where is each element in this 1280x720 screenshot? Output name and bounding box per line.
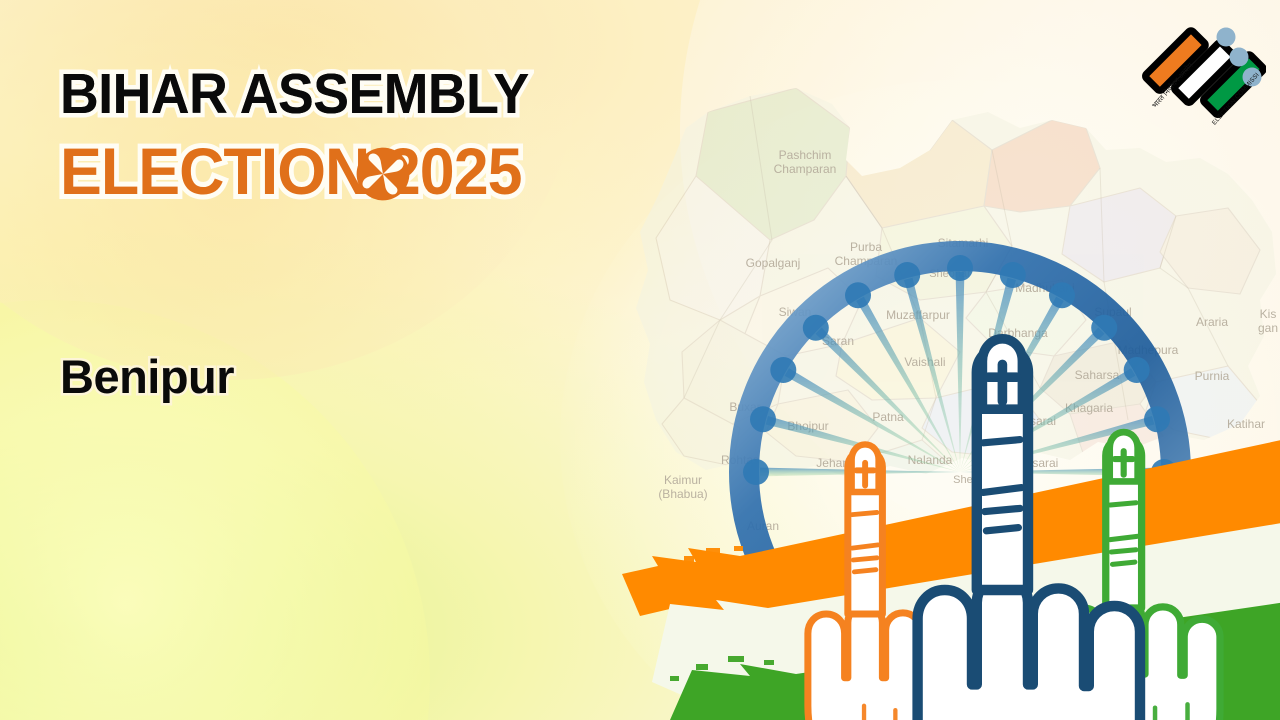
headline-block: BIHAR ASSEMBLY BIHAR ASSEMBLY ELECTION 2… bbox=[60, 66, 559, 212]
constituency-name: Benipur Benipur bbox=[60, 352, 234, 410]
title-line-1-text: BIHAR ASSEMBLY bbox=[60, 66, 529, 123]
title-line-1: BIHAR ASSEMBLY BIHAR ASSEMBLY bbox=[60, 66, 559, 128]
constituency-text: Benipur bbox=[60, 352, 234, 401]
title-line-2: ELECTION 2025 ELECTION 2025 bbox=[60, 138, 559, 212]
election-banner: PashchimChamparanPurbaChamparanGopalganj… bbox=[0, 0, 1280, 720]
logo-dot-1 bbox=[1217, 28, 1236, 47]
ballot-mark-icon bbox=[353, 144, 413, 204]
logo-dot-2 bbox=[1230, 48, 1249, 67]
election-commission-of-india-logo: भारत निर्वाचन आयोग ELECTION COMMISSION O… bbox=[1140, 14, 1266, 134]
title-line-2-text: ELECTION 2025 bbox=[60, 138, 522, 204]
